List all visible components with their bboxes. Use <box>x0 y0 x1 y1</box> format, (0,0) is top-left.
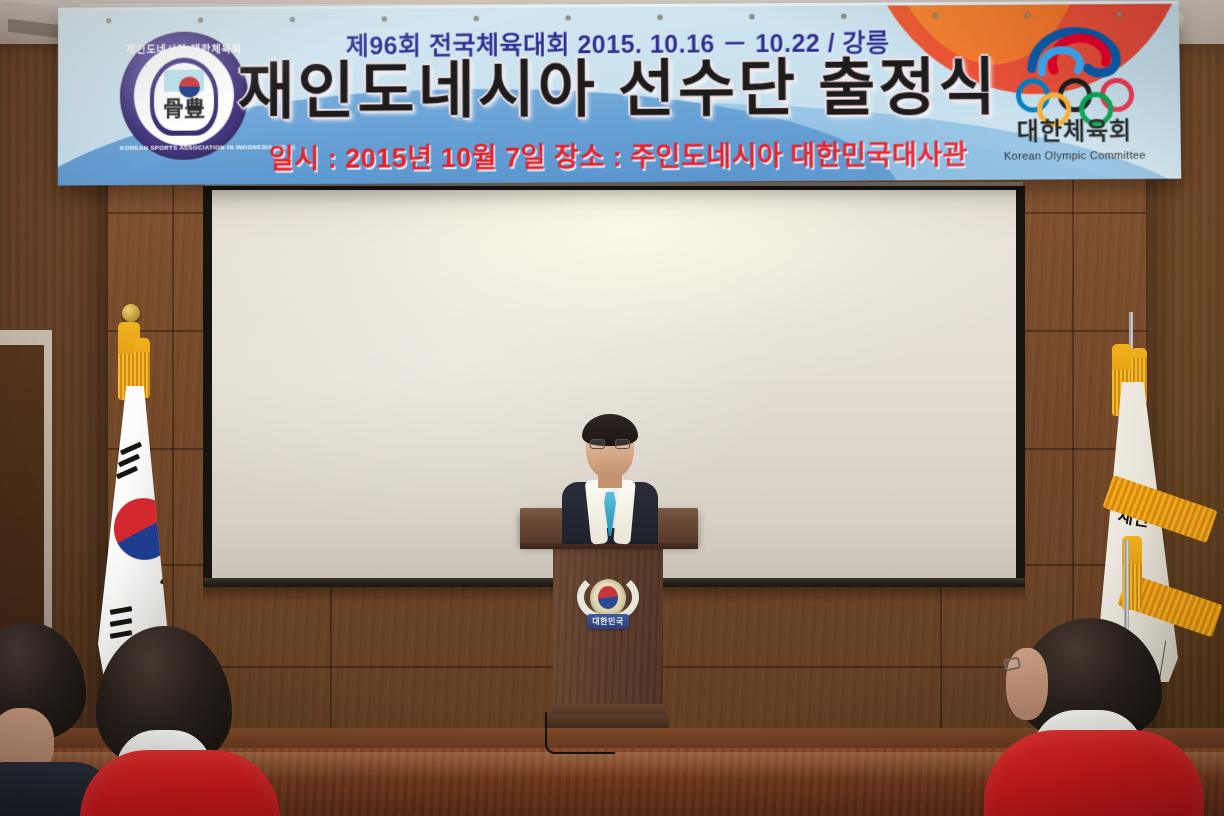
speaker-at-podium <box>540 408 680 540</box>
audience-member-right <box>962 618 1212 816</box>
korean-olympic-committee-logo: 대한체육회 Korean Olympic Committee <box>999 20 1149 171</box>
republic-of-korea-emblem: 대한민국 <box>577 568 639 638</box>
emblem-ribbon: 대한민국 <box>587 614 629 629</box>
koc-name-korean: 대한체육회 <box>1000 111 1149 147</box>
microphone-cable <box>545 712 615 754</box>
event-banner: 재인도네시아 대한체육회 KOREAN SPORTS ASSOCIATION I… <box>58 1 1181 186</box>
banner-main-title: 재인도네시아 선수단 출정식 <box>178 52 1058 129</box>
audience-member-left <box>88 626 304 816</box>
left-flag-pole-mount <box>122 304 140 322</box>
emblem-ribbon-text: 대한민국 <box>587 616 629 627</box>
koc-name-english: Korean Olympic Committee <box>1001 150 1149 163</box>
emblem-taeguk <box>598 586 618 609</box>
glasses-icon <box>590 439 630 449</box>
photo-scene: 재인 대한민국 <box>0 0 1224 816</box>
banner-details-line: 일시 : 2015년 10월 7일 장소 : 주인도네시아 대한민국대사관 <box>188 132 1049 176</box>
koc-swirl-icon <box>1023 24 1128 81</box>
